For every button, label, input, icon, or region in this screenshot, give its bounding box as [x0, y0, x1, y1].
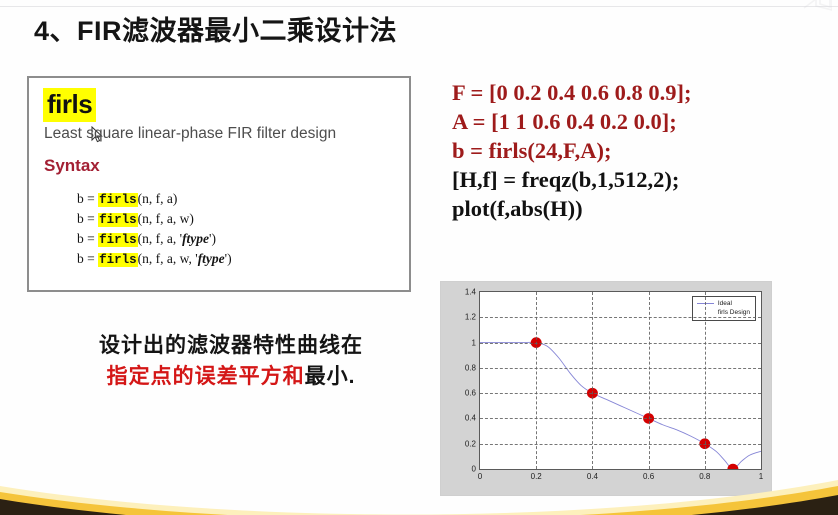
y-axis-tick-label: 0.8 — [465, 363, 476, 372]
syntax-args: (n, f, a, w, ' — [138, 251, 198, 266]
y-axis-tick-label: 1.4 — [465, 288, 476, 297]
syntax-list: b = firls(n, f, a) b = firls(n, f, a, w)… — [77, 191, 232, 271]
syntax-line: b = firls(n, f, a, w) — [77, 211, 232, 231]
syntax-suffix: ') — [225, 251, 232, 266]
corner-watermark-icon — [776, 0, 832, 28]
syntax-heading: Syntax — [44, 156, 100, 176]
plot-area: Ideal firls Design 00.20.40.60.811.21.40… — [479, 291, 762, 470]
code-line: plot(f,abs(H)) — [452, 194, 691, 223]
conclusion-emphasis: 指定点的误差平方和 — [107, 365, 305, 388]
legend-label: firls Design — [718, 308, 750, 317]
syntax-ftype: ftype — [198, 251, 225, 266]
y-axis-tick-label: 0.6 — [465, 389, 476, 398]
conclusion-tail: 最小. — [305, 365, 356, 388]
gridline-vertical — [592, 292, 593, 469]
syntax-prefix: b = — [77, 251, 98, 266]
conclusion-line-2: 指定点的误差平方和最小. — [36, 361, 426, 392]
gridline-horizontal — [480, 418, 761, 419]
syntax-line: b = firls(n, f, a, 'ftype') — [77, 231, 232, 251]
syntax-args: (n, f, a) — [138, 191, 178, 206]
syntax-prefix: b = — [77, 211, 98, 226]
gridline-horizontal — [480, 393, 761, 394]
code-line: [H,f] = freqz(b,1,512,2); — [452, 165, 691, 194]
syntax-prefix: b = — [77, 191, 98, 206]
syntax-line: b = firls(n, f, a) — [77, 191, 232, 211]
gridline-vertical — [705, 292, 706, 469]
code-line: b = firls(24,F,A); — [452, 136, 691, 165]
gridline-horizontal — [480, 317, 761, 318]
decorative-swoosh — [0, 455, 838, 515]
syntax-line: b = firls(n, f, a, w, 'ftype') — [77, 251, 232, 271]
legend-label: Ideal — [718, 299, 732, 308]
top-divider — [0, 6, 838, 7]
firls-response-line — [480, 342, 761, 469]
function-name-highlight: firls — [43, 88, 96, 122]
syntax-keyword: firls — [98, 213, 138, 227]
y-axis-tick-label: 1.2 — [465, 313, 476, 322]
code-line: F = [0 0.2 0.4 0.6 0.8 0.9]; — [452, 78, 691, 107]
gridline-horizontal — [480, 444, 761, 445]
function-description: Least square linear-phase FIR filter des… — [44, 125, 336, 143]
syntax-args: (n, f, a, w) — [138, 211, 194, 226]
page-title: 4、FIR滤波器最小二乘设计法 — [34, 9, 397, 48]
slide: 4、FIR滤波器最小二乘设计法 firls Least square linea… — [0, 0, 838, 515]
y-axis-tick-label: 0.4 — [465, 414, 476, 423]
syntax-keyword: firls — [98, 193, 138, 207]
syntax-suffix: ') — [209, 231, 216, 246]
gridline-vertical — [536, 292, 537, 469]
syntax-keyword: firls — [98, 253, 138, 267]
syntax-keyword: firls — [98, 233, 138, 247]
gridline-vertical — [649, 292, 650, 469]
y-axis-tick-label: 1 — [472, 338, 476, 347]
syntax-prefix: b = — [77, 231, 98, 246]
matlab-help-box: firls Least square linear-phase FIR filt… — [27, 76, 411, 292]
conclusion-text: 设计出的滤波器特性曲线在 指定点的误差平方和最小. — [36, 330, 426, 392]
y-axis-tick-label: 0.2 — [465, 439, 476, 448]
gridline-horizontal — [480, 368, 761, 369]
syntax-args: (n, f, a, ' — [138, 231, 182, 246]
conclusion-line-1: 设计出的滤波器特性曲线在 — [36, 330, 426, 361]
gridline-horizontal — [480, 343, 761, 344]
matlab-code-block: F = [0 0.2 0.4 0.6 0.8 0.9]; A = [1 1 0.… — [452, 78, 691, 223]
code-line: A = [1 1 0.6 0.4 0.2 0.0]; — [452, 107, 691, 136]
syntax-ftype: ftype — [182, 231, 209, 246]
